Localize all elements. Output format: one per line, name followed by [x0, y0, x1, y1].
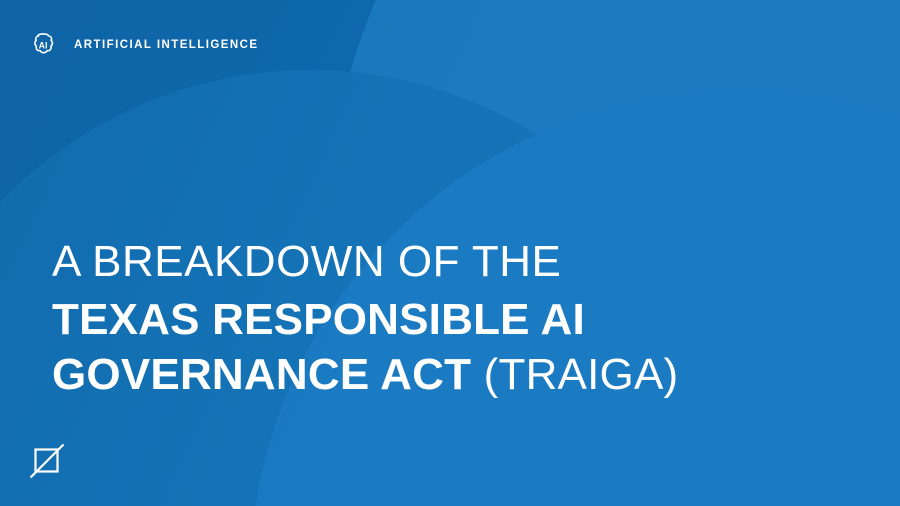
title-slide: AI ARTIFICIAL INTELLIGENCE A BREAKDOWN O…	[0, 0, 900, 506]
title-line-1: A BREAKDOWN OF THE	[52, 240, 678, 284]
title-block: A BREAKDOWN OF THE TEXAS RESPONSIBLE AI …	[52, 240, 678, 397]
title-line-2: TEXAS RESPONSIBLE AI	[52, 298, 678, 342]
ai-brain-icon: AI	[28, 30, 58, 60]
svg-text:AI: AI	[39, 40, 48, 50]
title-line-3-light: (TRAIGA)	[484, 350, 679, 399]
header: AI ARTIFICIAL INTELLIGENCE	[28, 30, 259, 60]
square-slash-logo	[24, 438, 70, 484]
title-line-3: GOVERNANCE ACT (TRAIGA)	[52, 353, 678, 397]
header-label: ARTIFICIAL INTELLIGENCE	[74, 39, 259, 51]
title-line-3-bold: GOVERNANCE ACT	[52, 350, 471, 399]
